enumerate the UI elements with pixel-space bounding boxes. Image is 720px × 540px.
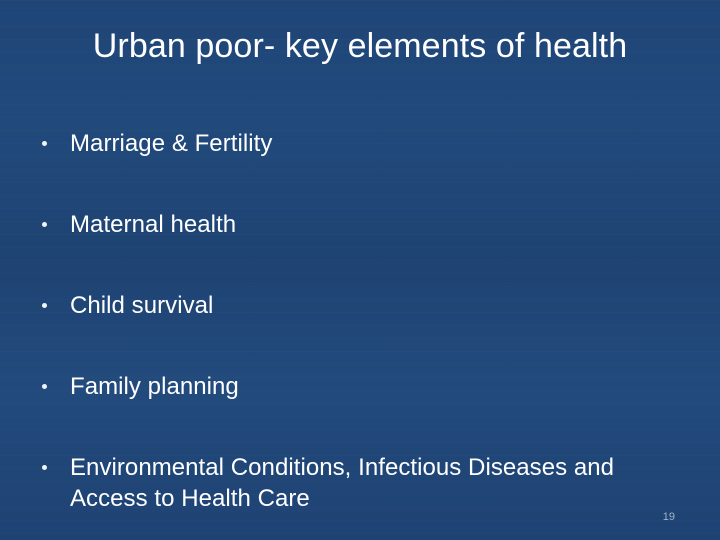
bullet-point-icon	[42, 141, 47, 146]
list-item-label: Environmental Conditions, Infectious Dis…	[70, 452, 676, 483]
list-item: Environmental Conditions, Infectious Dis…	[36, 452, 676, 514]
list-item-label: Marriage & Fertility	[70, 128, 676, 159]
page-title: Urban poor- key elements of health	[40, 24, 680, 68]
bullet-point-icon	[42, 303, 47, 308]
bullet-list: Marriage & Fertility Maternal health Chi…	[36, 128, 676, 514]
list-item: Child survival	[36, 290, 676, 371]
list-item-label: Maternal health	[70, 209, 676, 240]
list-item-label: Child survival	[70, 290, 676, 321]
list-item: Maternal health	[36, 209, 676, 290]
list-item-label: Family planning	[70, 371, 676, 402]
bullet-point-icon	[42, 465, 47, 470]
slide-number: 19	[663, 511, 675, 524]
list-item: Marriage & Fertility	[36, 128, 676, 209]
bullet-point-icon	[42, 222, 47, 227]
bullet-point-icon	[42, 384, 47, 389]
list-item-label-continuation: Access to Health Care	[70, 483, 676, 514]
list-item: Family planning	[36, 371, 676, 452]
slide-canvas: Urban poor- key elements of health Marri…	[0, 0, 720, 540]
